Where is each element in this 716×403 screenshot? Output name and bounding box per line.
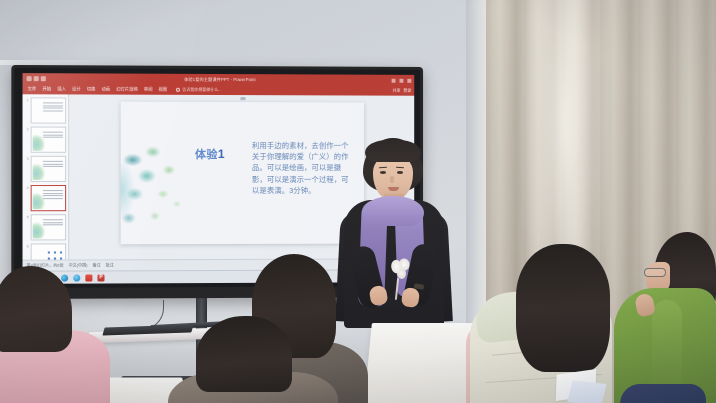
ruler-marker [240, 97, 245, 100]
lightbulb-icon [176, 88, 180, 92]
thumbnail-number: 4 [25, 185, 29, 190]
thumbnail-preview[interactable] [31, 127, 66, 153]
tell-me-label: 告诉我你想要做什么... [182, 87, 221, 93]
teacher [330, 138, 456, 328]
ribbon-tab-file[interactable]: 文件 [28, 86, 37, 92]
ribbon-tab-transitions[interactable]: 切换 [87, 86, 96, 92]
slide-thumbnail-pane[interactable]: 1 2 [23, 94, 70, 259]
ribbon-tab-home[interactable]: 开始 [42, 86, 51, 92]
thumbnail-number: 6 [25, 243, 29, 248]
teacher-fringe [365, 140, 421, 162]
ribbon-tab-insert[interactable]: 插入 [57, 86, 66, 92]
thumbnail-item[interactable]: 3 [25, 156, 67, 182]
ribbon-tab-slideshow[interactable]: 幻灯片放映 [116, 87, 138, 93]
ribbon-tab-review[interactable]: 审阅 [144, 87, 153, 93]
thumbnail-number: 3 [25, 156, 29, 161]
thumbnail-text-lines [43, 219, 63, 227]
thumbnail-preview[interactable] [31, 214, 66, 240]
notes-button[interactable]: 备注 [93, 262, 101, 268]
teacher-eye-left [380, 171, 386, 174]
ribbon-tab-view[interactable]: 视图 [159, 87, 168, 93]
worksheet-paper [567, 380, 606, 403]
thumbnail-preview[interactable] [31, 97, 66, 123]
student-cream-puffer-hair [516, 244, 610, 372]
slide-title-number: 1 [218, 147, 225, 161]
glasses-icon [644, 268, 666, 277]
share-button[interactable]: 共享 [393, 88, 401, 94]
ribbon-right-actions[interactable]: 共享 登录 [393, 88, 412, 94]
thumbnail-number: 2 [25, 127, 29, 132]
window-title: 体验1爱的主题课件PPT - PowerPoint [23, 76, 415, 84]
thumbnail-item[interactable]: 1 [25, 97, 67, 123]
browser-icon[interactable] [73, 274, 80, 281]
slide-title-text: 体验 [195, 149, 218, 161]
wps-icon[interactable] [85, 274, 92, 281]
thumbnail-item[interactable]: 6 [25, 243, 67, 259]
thumbnail-number: 1 [25, 97, 29, 102]
ribbon-tab-design[interactable]: 设计 [72, 86, 81, 92]
ribbon-tab-animations[interactable]: 动画 [101, 87, 110, 93]
teacher-scarf [362, 196, 424, 226]
student-green-sweater-collar [620, 384, 706, 403]
thumbnail-preview[interactable] [31, 243, 66, 259]
teacher-nose [390, 176, 394, 183]
edge-browser-icon[interactable] [61, 274, 68, 281]
thumbnail-item[interactable]: 2 [25, 127, 67, 153]
current-slide[interactable]: 体验1 利用手边的素材，去创作一个关于你理解的爱（广义）的作品。可以是绘画，可以… [121, 102, 364, 245]
thumbnail-text-lines [43, 102, 63, 113]
slide-title[interactable]: 体验1 [195, 146, 225, 162]
thumbnail-text-lines [43, 190, 63, 200]
comments-button[interactable]: 批注 [106, 262, 114, 268]
thumbnail-preview[interactable] [31, 156, 66, 182]
window-controls[interactable] [392, 78, 412, 82]
thumbnail-item[interactable]: 5 [25, 214, 67, 240]
teacher-eye-right [397, 171, 403, 174]
white-paper-flower [388, 257, 413, 284]
thumbnail-preview[interactable] [31, 185, 66, 211]
restore-icon[interactable] [399, 78, 403, 82]
thumbnail-number: 5 [25, 214, 29, 219]
language-indicator[interactable]: 中文(中国) [69, 262, 88, 268]
tell-me-search[interactable]: 告诉我你想要做什么... [176, 87, 221, 93]
thumbnail-dot-grid-graphic [46, 249, 66, 259]
minimize-icon[interactable] [392, 78, 396, 82]
sign-in-button[interactable]: 登录 [403, 88, 411, 94]
thumbnail-text-lines [43, 132, 63, 140]
classroom-scene: 体验1爱的主题课件PPT - PowerPoint 文件 开始 插入 设计 [0, 0, 716, 403]
thumbnail-text-lines [43, 161, 63, 169]
thumbnail-item-selected[interactable]: 4 [25, 185, 67, 211]
powerpoint-icon[interactable]: P [97, 274, 104, 281]
close-icon[interactable] [407, 78, 411, 82]
student-dark-hair-boy-hair [196, 316, 292, 392]
